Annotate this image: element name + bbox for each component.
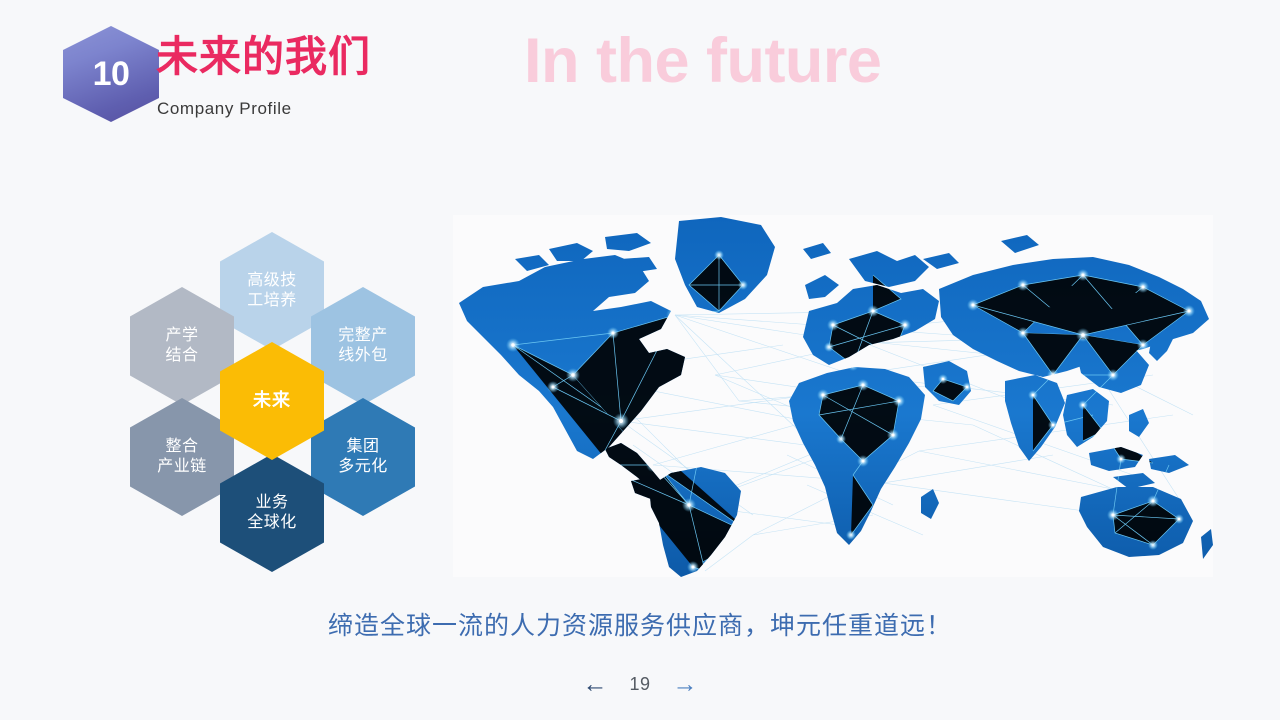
slide-number-text: 10 bbox=[93, 57, 130, 91]
hex-item-label: 产学 结合 bbox=[165, 326, 198, 365]
page-title: 未来的我们 bbox=[156, 36, 371, 78]
hex-item-bottom[interactable]: 业务 全球化 bbox=[220, 454, 324, 572]
hex-item-center[interactable]: 未来 bbox=[220, 342, 324, 460]
next-slide-arrow-icon[interactable]: → bbox=[673, 672, 698, 697]
previous-slide-arrow-icon[interactable]: ← bbox=[582, 672, 607, 697]
slide-number-badge: 10 bbox=[63, 26, 159, 122]
hex-item-top-right[interactable]: 完整产 线外包 bbox=[311, 287, 415, 405]
hex-item-top[interactable]: 高级技 工培养 bbox=[220, 232, 324, 350]
hex-item-top-left[interactable]: 产学 结合 bbox=[130, 287, 234, 405]
page-title-english: In the future bbox=[524, 28, 881, 94]
slide-page-number: 19 bbox=[629, 674, 650, 695]
hex-item-bottom-left[interactable]: 整合 产业链 bbox=[130, 398, 234, 516]
hex-item-label: 集团 多元化 bbox=[338, 437, 388, 476]
hex-item-label: 未来 bbox=[253, 390, 291, 412]
slide-pager: ← 19 → bbox=[0, 672, 1280, 697]
world-map-image bbox=[453, 215, 1213, 577]
slide-header: 10 未来的我们 Company Profile In the future bbox=[0, 0, 1280, 150]
hex-item-label: 完整产 线外包 bbox=[338, 326, 388, 365]
world-map-svg bbox=[453, 215, 1213, 577]
hex-item-label: 高级技 工培养 bbox=[247, 271, 297, 310]
hex-item-bottom-right[interactable]: 集团 多元化 bbox=[311, 398, 415, 516]
hexagon-cluster: 高级技 工培养 产学 结合 完整产 线外包 整合 产业链 集团 多元化 业务 全… bbox=[100, 232, 445, 577]
hex-item-label: 业务 全球化 bbox=[247, 493, 297, 532]
hex-item-label: 整合 产业链 bbox=[157, 437, 207, 476]
page-subtitle: Company Profile bbox=[157, 99, 292, 119]
slide-caption: 缔造全球一流的人力资源服务供应商，坤元任重道远！ bbox=[0, 606, 1280, 642]
